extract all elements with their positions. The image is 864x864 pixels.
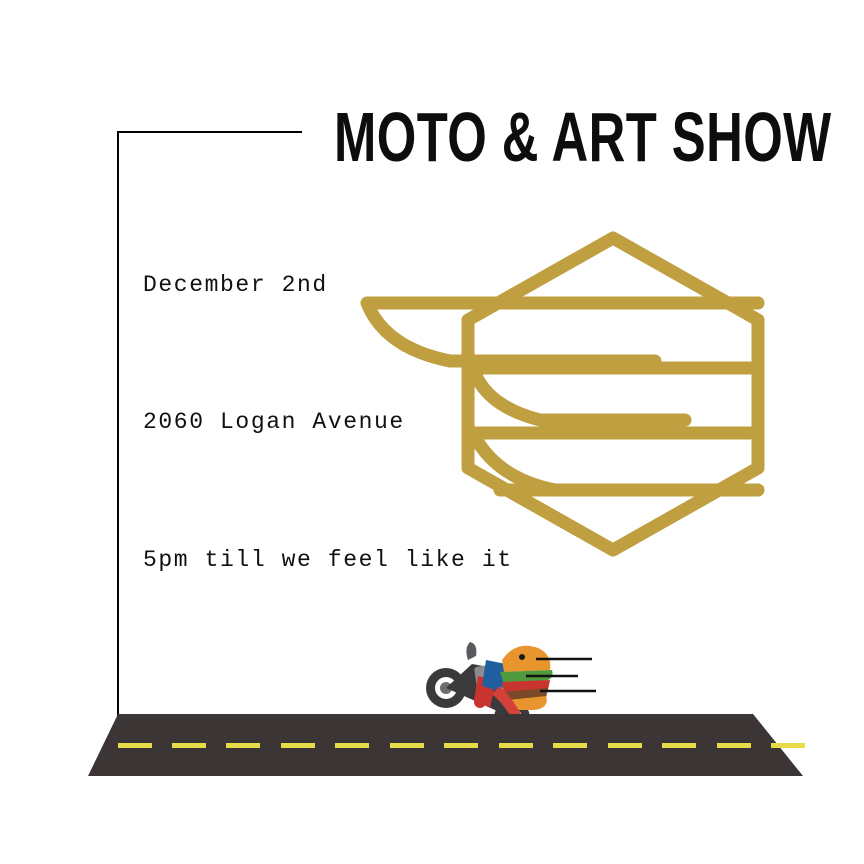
hexagon-stripes-icon (355, 228, 775, 558)
page-title: MOTO & ART SHOW (334, 104, 832, 173)
road-graphic (0, 700, 864, 790)
brand-logo (355, 228, 775, 558)
event-date-text: December 2nd (143, 270, 328, 300)
title-rule-vertical (117, 131, 119, 717)
title-rule-horizontal (117, 131, 302, 133)
road-icon (0, 700, 864, 790)
poster-canvas: MOTO & ART SHOW December 2nd 2060 Logan … (0, 0, 864, 864)
